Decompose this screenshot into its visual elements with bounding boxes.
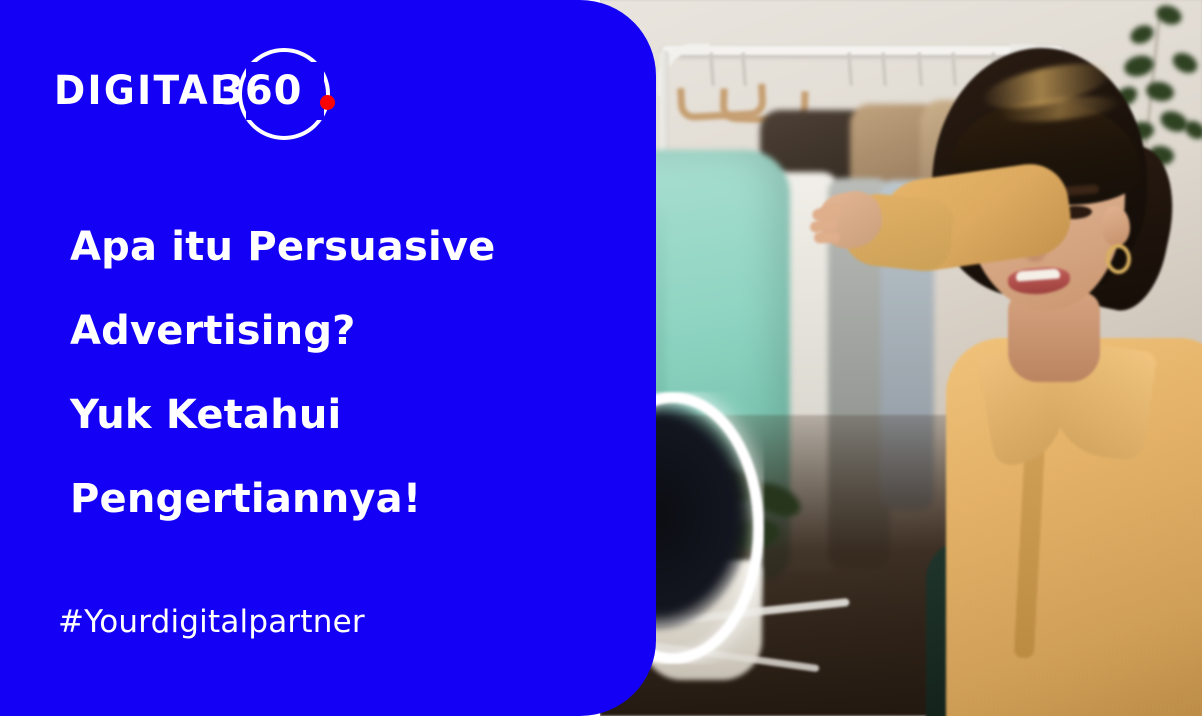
blue-content-panel: DIGITAL 360 Apa itu Persuasive Advertisi… xyxy=(0,0,656,716)
brand-hashtag: #Yourdigitalpartner xyxy=(58,604,365,640)
headline-line-1: Apa itu Persuasive xyxy=(70,205,610,289)
hero-photo xyxy=(600,0,1202,716)
headline-line-3: Yuk Ketahui xyxy=(70,373,610,457)
hoop-earring-icon xyxy=(1106,244,1131,274)
red-dot-icon xyxy=(320,95,335,110)
finger xyxy=(814,232,840,244)
woman-shopper xyxy=(750,20,1202,716)
headline-line-2: Advertising? xyxy=(70,289,610,373)
poster-canvas: DIGITAL 360 Apa itu Persuasive Advertisi… xyxy=(0,0,1202,716)
page-title: Apa itu Persuasive Advertising? Yuk Keta… xyxy=(70,205,610,541)
logo-wordmark: DIGITAL xyxy=(54,68,236,114)
hero-photo-scene xyxy=(600,0,1202,716)
hanger-hook-icon xyxy=(709,52,723,87)
ear xyxy=(1102,206,1130,246)
brand-logo[interactable]: DIGITAL 360 xyxy=(50,40,310,140)
logo-number: 360 xyxy=(216,68,303,114)
headline-line-4: Pengertiannya! xyxy=(70,457,610,541)
